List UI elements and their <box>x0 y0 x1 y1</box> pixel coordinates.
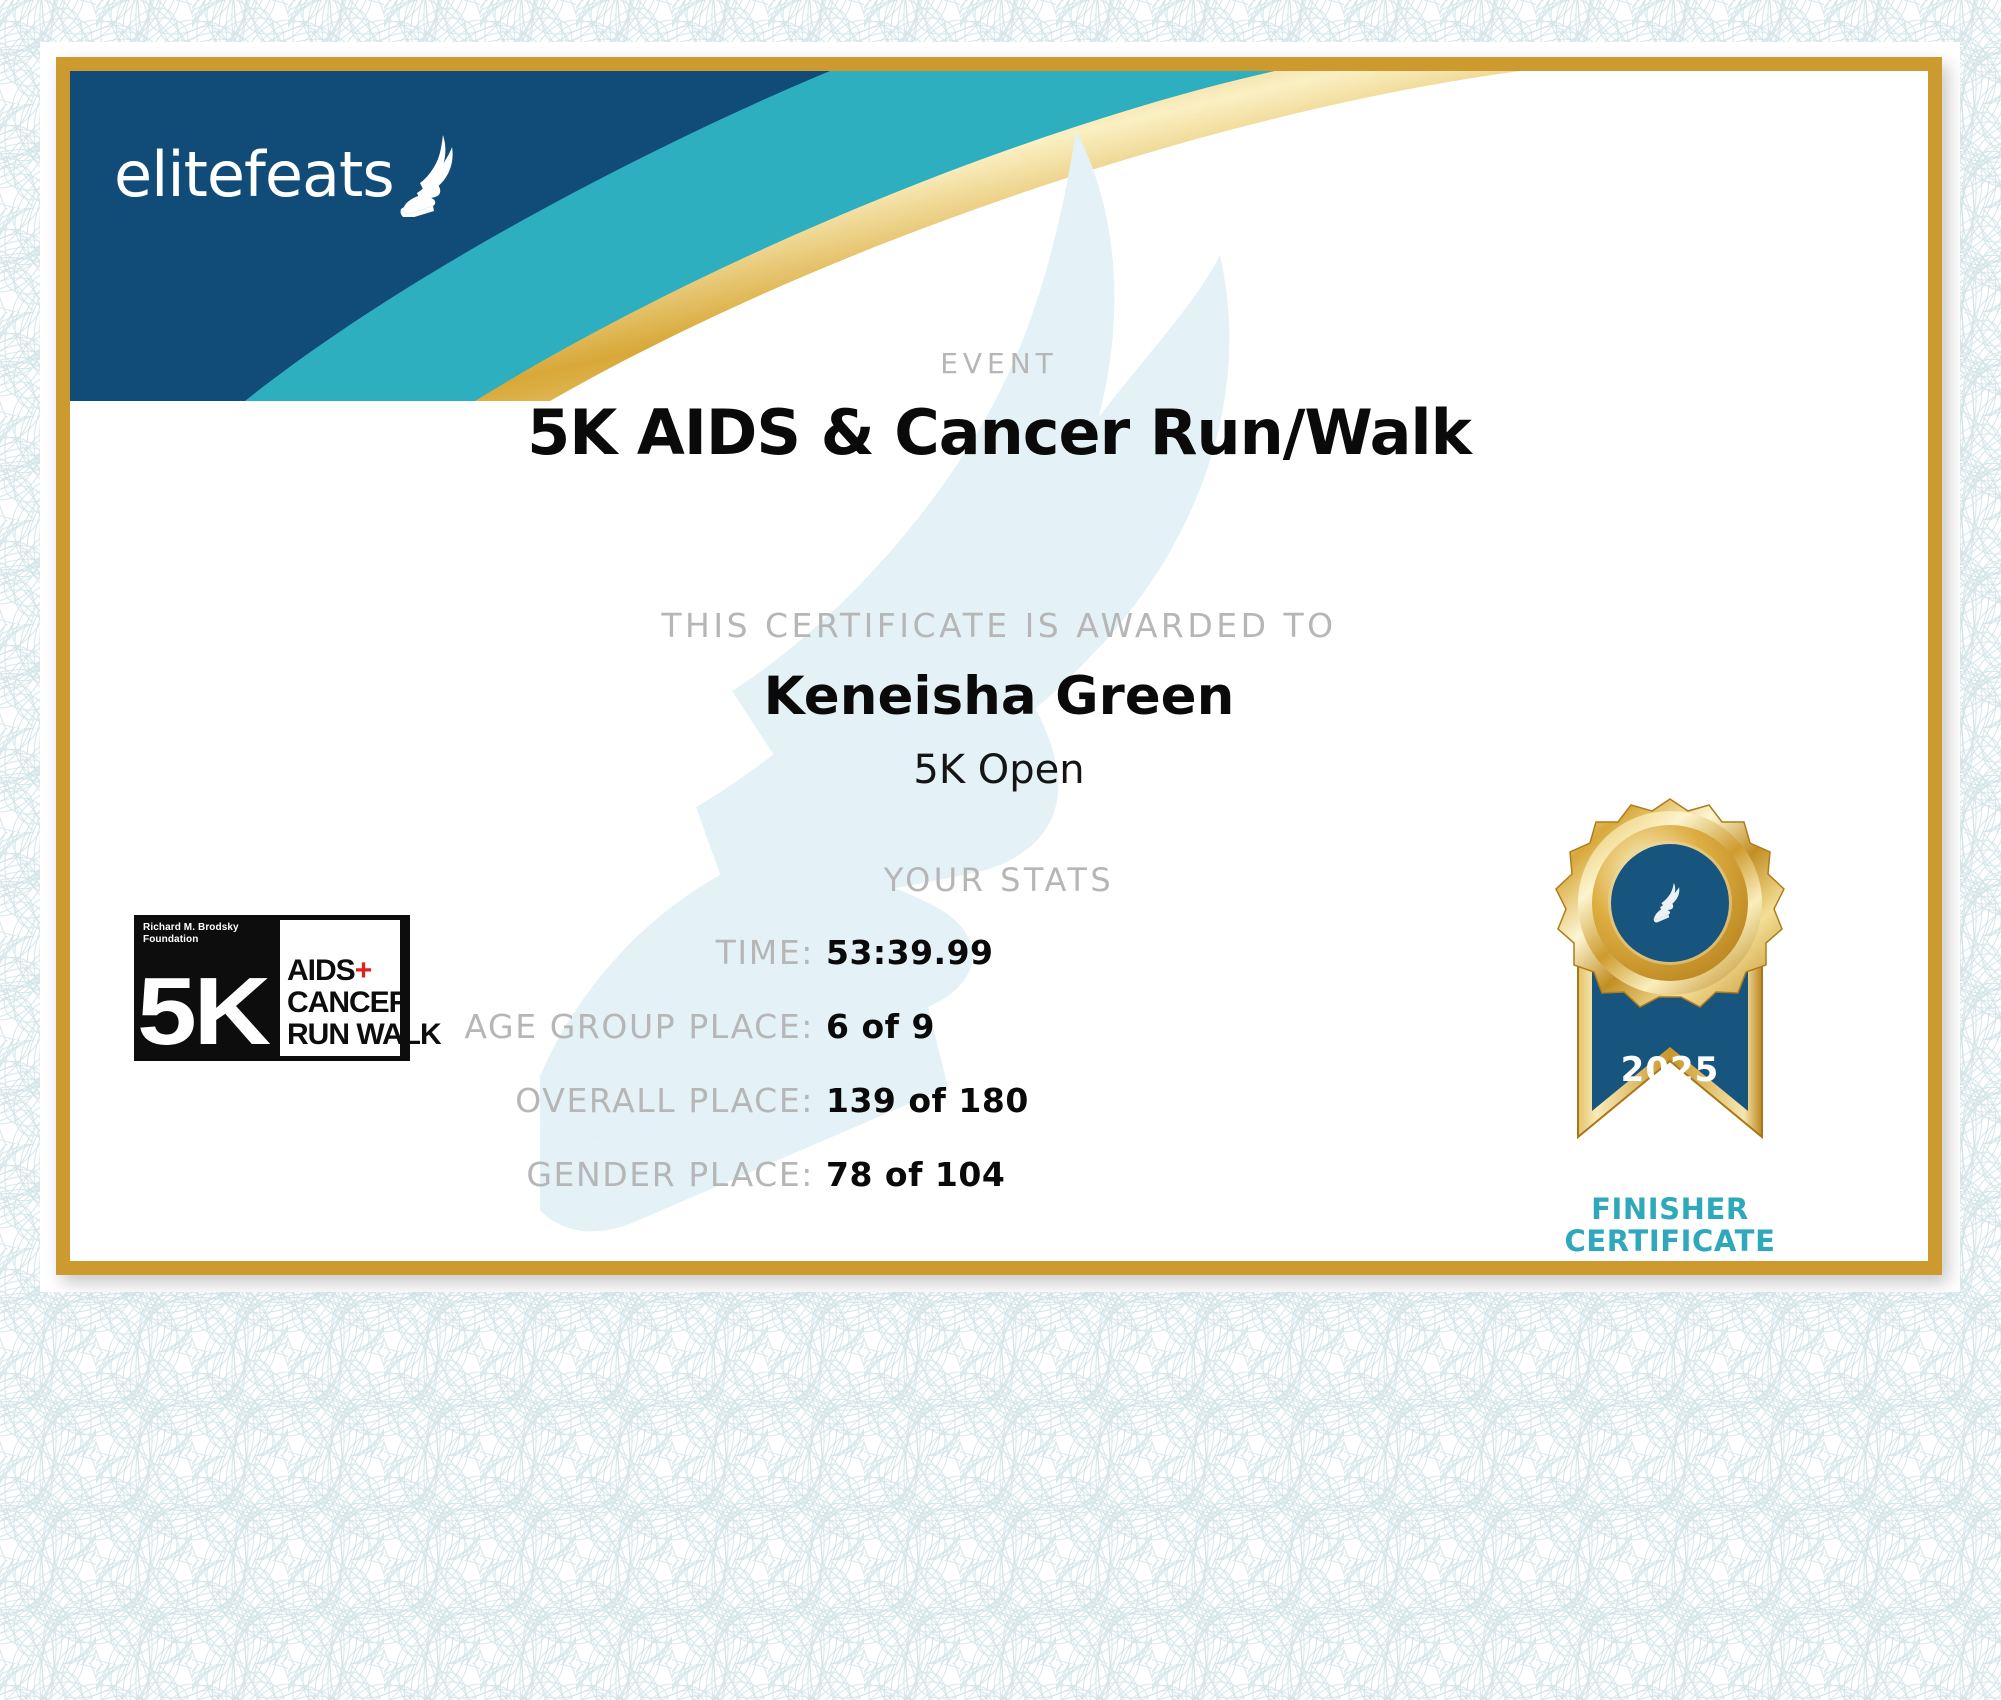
stat-value-age-group-place: 6 of 9 <box>826 1007 1250 1081</box>
stat-value-overall-place: 139 of 180 <box>826 1081 1250 1155</box>
race-distance-5k: 5K <box>137 964 268 1060</box>
foundation-name: Richard M. Brodsky Foundation <box>143 922 239 946</box>
race-logo-line-run-walk: RUN WALK <box>287 1020 441 1050</box>
medal-caption-line-2: CERTIFICATE <box>1520 1225 1820 1257</box>
event-title: 5K AIDS & Cancer Run/Walk <box>70 396 1928 469</box>
stat-label-gender-place: GENDER PLACE: <box>70 1155 826 1229</box>
race-event-logo: Richard M. Brodsky Foundation 5K AIDS+ C… <box>134 915 410 1061</box>
table-row: GENDER PLACE: 78 of 104 <box>70 1155 1250 1229</box>
medal-caption: FINISHER CERTIFICATE <box>1520 1193 1820 1257</box>
awarded-to-label: THIS CERTIFICATE IS AWARDED TO <box>70 606 1928 645</box>
stat-value-time: 53:39.99 <box>826 933 1250 1007</box>
table-row: OVERALL PLACE: 139 of 180 <box>70 1081 1250 1155</box>
race-logo-line-aids: AIDS+ <box>287 956 371 986</box>
certificate-content: EVENT 5K AIDS & Cancer Run/Walk THIS CER… <box>70 71 1928 1261</box>
medal-ribbon-graphic: 2025 <box>1520 789 1820 1189</box>
plus-icon: + <box>355 954 372 987</box>
medal-year: 2025 <box>1621 1050 1720 1090</box>
stat-label-overall-place: OVERALL PLACE: <box>70 1081 826 1155</box>
race-logo-line-cancer: CANCER <box>287 988 409 1018</box>
brand-name: elitefeats <box>114 144 394 206</box>
foundation-line-1: Richard M. Brodsky <box>143 922 239 934</box>
foundation-line-2: Foundation <box>143 934 239 946</box>
recipient-division: 5K Open <box>70 747 1928 793</box>
certificate-inner: elitefeats <box>70 71 1928 1261</box>
medal-caption-line-1: FINISHER <box>1520 1193 1820 1225</box>
event-label: EVENT <box>70 347 1928 380</box>
winged-foot-icon <box>400 133 462 217</box>
stat-value-gender-place: 78 of 104 <box>826 1155 1250 1229</box>
recipient-name: Keneisha Green <box>70 666 1928 727</box>
race-logo-aids-text: AIDS <box>287 954 355 987</box>
certificate-card: elitefeats <box>56 57 1942 1275</box>
race-logo-right-panel: AIDS+ CANCER RUN WALK <box>280 920 400 1056</box>
certificate-page: elitefeats <box>0 0 2001 1700</box>
race-logo-left-panel: Richard M. Brodsky Foundation 5K <box>134 915 280 1061</box>
brand-logo: elitefeats <box>114 133 462 217</box>
finisher-medal-badge: 2025 FINISHER CERTIFICATE <box>1520 789 1820 1257</box>
